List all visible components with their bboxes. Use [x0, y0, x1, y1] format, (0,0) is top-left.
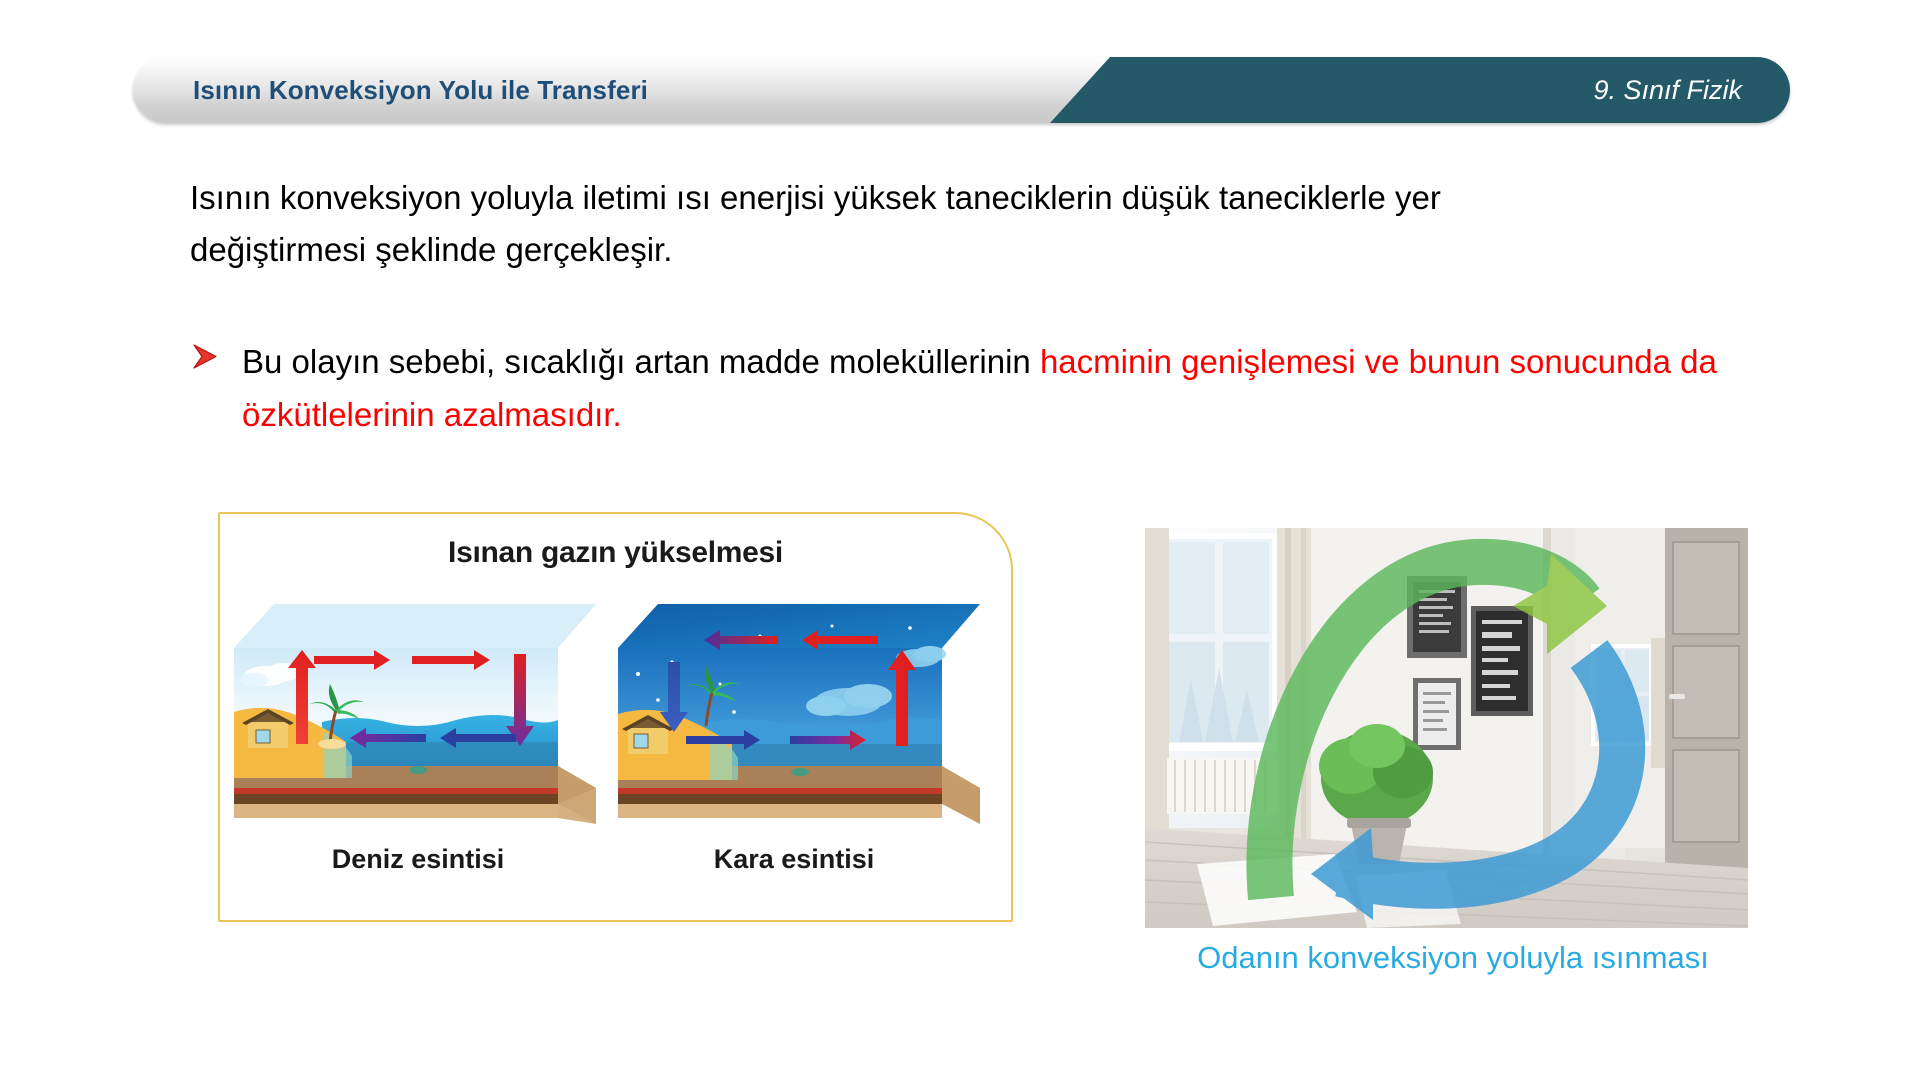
day-dark-soil — [234, 794, 558, 804]
room-picture-frame-2 — [1471, 606, 1533, 716]
night-seaweed — [791, 768, 809, 776]
sea-breeze-illustration — [226, 592, 598, 832]
day-box-top — [234, 604, 596, 648]
bullet-item: Bu olayın sebebi, sıcaklığı artan madde … — [190, 335, 1810, 441]
night-sand-base — [618, 804, 942, 818]
arrowhead-bullet-icon — [190, 342, 220, 372]
intro-paragraph: Isının konveksiyon yoluyla iletimi ısı e… — [190, 172, 1620, 276]
room-door — [1665, 528, 1748, 894]
room-door-handle — [1669, 694, 1685, 699]
night-dark-soil — [618, 794, 942, 804]
page-title: Isının Konveksiyon Yolu ile Transferi — [193, 57, 648, 123]
bullet-text: Bu olayın sebebi, sıcaklığı artan madde … — [190, 335, 1810, 441]
header-banner: Isının Konveksiyon Yolu ile Transferi 9.… — [133, 57, 1790, 123]
night-box-top — [618, 604, 980, 648]
room-picture-frame-3 — [1413, 678, 1461, 750]
land-breeze-illustration — [610, 592, 982, 832]
room-convection-photo — [1145, 528, 1748, 928]
sea-breeze-caption: Deniz esintisi — [232, 844, 604, 875]
breeze-diagram-card: Isınan gazın yükselmesi — [218, 512, 1013, 922]
land-breeze-caption: Kara esintisi — [608, 844, 980, 875]
bullet-text-black: Bu olayın sebebi, sıcaklığı artan madde … — [242, 343, 1040, 380]
night-hot-layer — [618, 788, 942, 794]
day-hot-layer — [234, 788, 558, 794]
subject-label: 9. Sınıf Fizik — [1593, 57, 1742, 123]
room-photo-caption: Odanın konveksiyon yoluyla ısınması — [1123, 940, 1783, 976]
day-seaweed — [409, 766, 427, 774]
room-window — [1163, 536, 1275, 751]
day-sand-base — [234, 804, 558, 818]
night-ground-right — [942, 766, 980, 824]
breeze-card-title: Isınan gazın yükselmesi — [220, 536, 1011, 570]
room-photo-svg — [1145, 528, 1748, 928]
room-curtain-left — [1145, 528, 1169, 858]
